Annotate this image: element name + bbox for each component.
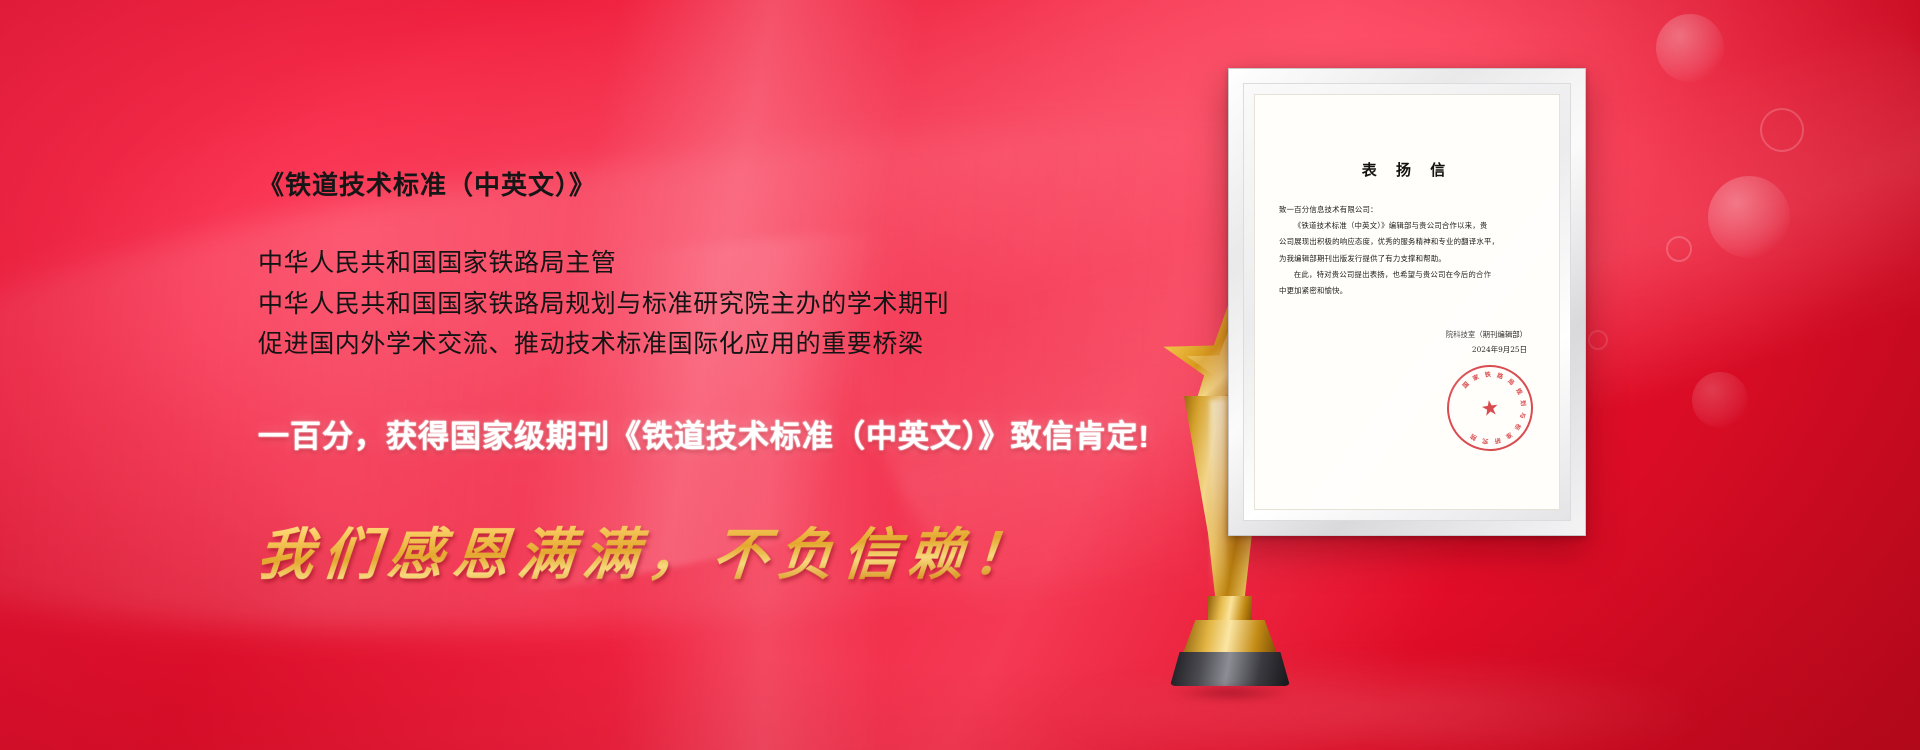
- description-line-2: 中华人民共和国国家铁路局规划与标准研究院主办的学术期刊: [258, 284, 1208, 325]
- certificate-signature-date: 2024年9月25日: [1279, 343, 1527, 358]
- trophy-cup-highlight: [1210, 400, 1226, 596]
- red-official-seal-icon: 国家铁路局规划与标准研究院: [1441, 359, 1538, 456]
- trophy-shadow: [1146, 682, 1316, 704]
- certificate-mat: 表 扬 信 致一百分信息技术有限公司： 《铁道技术标准（中英文）》编辑部与贵公司…: [1243, 83, 1571, 521]
- calligraphy-slogan: 我们感恩满满，不负信赖！: [254, 510, 1211, 591]
- certificate-body-line-2: 《铁道技术标准（中英文）》编辑部与贵公司合作以来，贵: [1279, 218, 1535, 233]
- certificate-signature: 院科技室（期刊编辑部） 2024年9月25日: [1279, 328, 1535, 358]
- seal-ring-text: 国家铁路局规划与标准研究院: [1448, 366, 1532, 450]
- copy-block: 《铁道技术标准（中英文）》 中华人民共和国国家铁路局主管 中华人民共和国国家铁路…: [258, 170, 1208, 591]
- description-line-3: 促进国内外学术交流、推动技术标准国际化应用的重要桥梁: [258, 324, 1208, 365]
- trophy-base-gold: [1182, 620, 1278, 656]
- certificate-heading: 表 扬 信: [1279, 159, 1535, 180]
- trophy-base-dark: [1170, 652, 1290, 686]
- certificate-glass-glare: [1255, 95, 1559, 509]
- banner-background: 《铁道技术标准（中英文）》 中华人民共和国国家铁路局主管 中华人民共和国国家铁路…: [0, 0, 1920, 750]
- description-line-1: 中华人民共和国国家铁路局主管: [258, 243, 1208, 284]
- certificate-body-line-6: 中更加紧密和愉快。: [1279, 283, 1535, 298]
- certificate-paper: 表 扬 信 致一百分信息技术有限公司： 《铁道技术标准（中英文）》编辑部与贵公司…: [1254, 94, 1560, 510]
- certificate-body-line-3: 公司展现出积极的响应态度，优秀的服务精神和专业的翻译水平，: [1279, 234, 1535, 249]
- certificate-body-line-4: 为我编辑部期刊出版发行提供了有力支撑和帮助。: [1279, 251, 1535, 266]
- certificate-body-line-5: 在此，特对贵公司提出表扬，也希望与贵公司在今后的合作: [1279, 267, 1535, 282]
- certificate-signature-org: 院科技室（期刊编辑部）: [1279, 328, 1527, 343]
- headline-text: 一百分，获得国家级期刊《铁道技术标准（中英文）》致信肯定!: [258, 411, 1208, 456]
- certificate-body-line-1: 致一百分信息技术有限公司：: [1279, 202, 1535, 217]
- trophy-neck: [1208, 596, 1252, 624]
- certificate-body: 致一百分信息技术有限公司： 《铁道技术标准（中英文）》编辑部与贵公司合作以来，贵…: [1279, 202, 1535, 298]
- journal-title: 《铁道技术标准（中英文）》: [258, 170, 1208, 201]
- certificate-frame: 表 扬 信 致一百分信息技术有限公司： 《铁道技术标准（中英文）》编辑部与贵公司…: [1228, 68, 1586, 536]
- description-block: 中华人民共和国国家铁路局主管 中华人民共和国国家铁路局规划与标准研究院主办的学术…: [258, 243, 1208, 365]
